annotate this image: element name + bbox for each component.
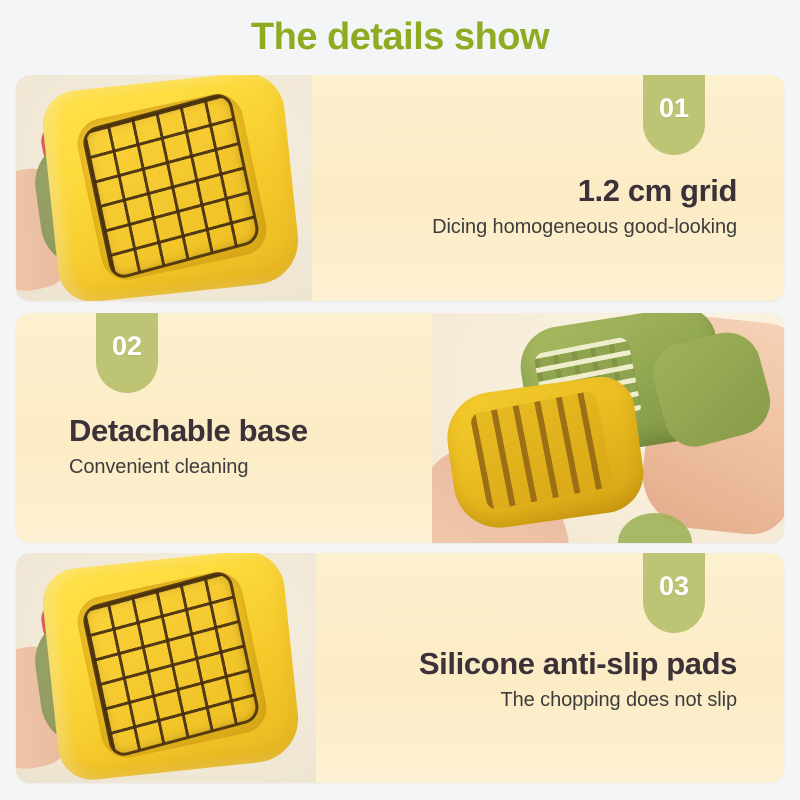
panel-3-subline: The chopping does not slip <box>419 689 737 712</box>
detail-panel-3: 03 Silicone anti-slip pads The chopping … <box>16 553 784 783</box>
chopper-illustration <box>34 559 296 773</box>
chopper-yellow-tray <box>40 553 303 783</box>
panel-2-headline: Detachable base <box>69 413 308 449</box>
product-photo-3 <box>16 553 316 783</box>
panel-2-text: Detachable base Convenient cleaning <box>69 413 308 479</box>
yellow-base-blades <box>469 390 613 511</box>
detail-panel-2: 02 Detachable base Convenient cleaning <box>16 313 784 543</box>
panel-1-headline: 1.2 cm grid <box>432 173 737 209</box>
panel-number-badge-01: 01 <box>643 75 705 155</box>
chopper-yellow-tray <box>40 75 303 301</box>
page-title: The details show <box>0 16 800 59</box>
panel-2-subline: Convenient cleaning <box>69 456 308 479</box>
panel-number-badge-02: 02 <box>96 313 158 393</box>
chopper-illustration <box>34 81 296 295</box>
product-photo-2 <box>432 313 784 543</box>
panel-3-text: Silicone anti-slip pads The chopping doe… <box>419 646 737 712</box>
panel-1-subline: Dicing homogeneous good-looking <box>432 216 737 239</box>
panel-number-badge-03: 03 <box>643 553 705 633</box>
panel-1-text: 1.2 cm grid Dicing homogeneous good-look… <box>432 173 737 239</box>
panel-3-headline: Silicone anti-slip pads <box>419 646 737 682</box>
detail-panel-1: 01 1.2 cm grid Dicing homogeneous good-l… <box>16 75 784 301</box>
product-photo-1 <box>16 75 312 301</box>
chopper-yellow-base <box>441 372 648 533</box>
infographic-page: The details show 01 1.2 cm grid Dicing h… <box>0 0 800 800</box>
detachable-base-illustration <box>432 313 784 543</box>
